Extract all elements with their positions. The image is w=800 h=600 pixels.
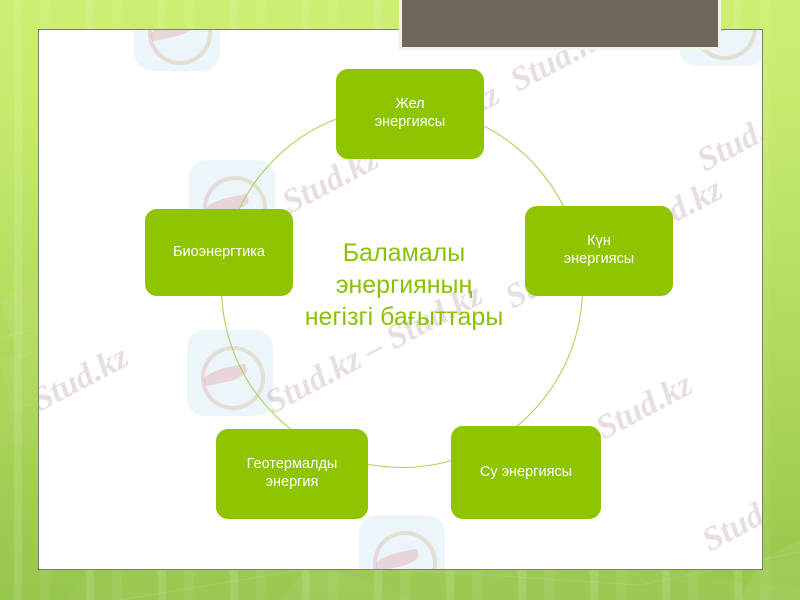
title-placeholder-bar[interactable] (399, 0, 721, 50)
cycle-node-bioenergy[interactable]: Биоэнергтика (145, 209, 293, 296)
cycle-node-geothermal[interactable]: Геотермалды энергия (216, 429, 368, 519)
cycle-node-wind[interactable]: Жел энергиясы (336, 69, 484, 159)
slide-content-area: Stud.kz – Stud.kz Stud.kz – Stud.kz Stud… (38, 29, 763, 570)
cycle-node-sun[interactable]: Күн энергиясы (525, 206, 673, 296)
cycle-node-water[interactable]: Су энергиясы (451, 426, 601, 519)
diagram-center-title: Баламалы энергияның негізгі бағыттары (265, 237, 543, 333)
slide: Stud.kz – Stud.kz Stud.kz – Stud.kz Stud… (0, 0, 800, 600)
cycle-diagram: Баламалы энергияның негізгі бағыттары Же… (39, 30, 763, 570)
